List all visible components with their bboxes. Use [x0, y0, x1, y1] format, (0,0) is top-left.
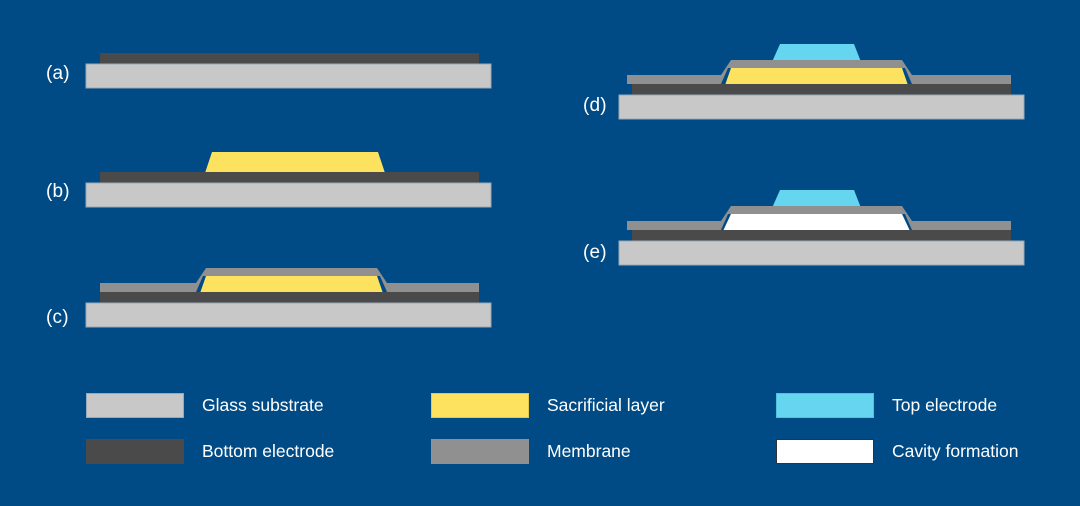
panel-c-bottom-electrode: [100, 292, 479, 303]
panel-b-bottom-electrode: [100, 172, 479, 183]
panel-label-b: (b): [46, 182, 70, 201]
panel-label-a: (a): [46, 64, 70, 83]
panel-d-top-electrode: [772, 44, 861, 62]
legend-label-membrane: Membrane: [547, 443, 631, 461]
legend-item-sacrificial-layer: Sacrificial layer: [431, 393, 665, 418]
legend-swatch-bottom-electrode: [86, 439, 184, 464]
panel-e-bottom-electrode: [632, 230, 1011, 241]
diagram-canvas: [0, 0, 1080, 506]
panel-d-group: [619, 44, 1024, 119]
process-flow-figure: (a) (b) (c) (d) (e) Glass substrate Bott…: [0, 0, 1080, 506]
legend-swatch-glass-substrate: [86, 393, 184, 418]
panel-a-bottom-electrode: [100, 53, 479, 64]
legend-label-top-electrode: Top electrode: [892, 397, 997, 415]
panel-e-top-electrode: [772, 190, 861, 208]
panel-a-glass-substrate: [86, 64, 491, 88]
panel-c-group: [86, 268, 491, 327]
legend-label-glass-substrate: Glass substrate: [202, 397, 324, 415]
legend-item-bottom-electrode: Bottom electrode: [86, 439, 334, 464]
legend-item-glass-substrate: Glass substrate: [86, 393, 324, 418]
legend-swatch-top-electrode: [776, 393, 874, 418]
legend-swatch-sacrificial-layer: [431, 393, 529, 418]
legend-label-sacrificial-layer: Sacrificial layer: [547, 397, 665, 415]
panel-d-bottom-electrode: [632, 84, 1011, 95]
panel-a-group: [86, 53, 491, 88]
legend-label-bottom-electrode: Bottom electrode: [202, 443, 334, 461]
legend-item-membrane: Membrane: [431, 439, 631, 464]
panel-label-e: (e): [583, 243, 607, 262]
panel-d-glass-substrate: [619, 95, 1024, 119]
legend-label-cavity-formation: Cavity formation: [892, 443, 1018, 461]
panel-e-cavity: [723, 214, 910, 231]
panel-label-d: (d): [583, 96, 607, 115]
legend-swatch-cavity-formation: [776, 439, 874, 464]
panel-label-c: (c): [46, 308, 69, 327]
panel-b-group: [86, 152, 491, 207]
panel-c-glass-substrate: [86, 303, 491, 327]
panel-e-group: [619, 190, 1024, 265]
legend-item-cavity-formation: Cavity formation: [776, 439, 1018, 464]
legend-swatch-membrane: [431, 439, 529, 464]
legend-item-top-electrode: Top electrode: [776, 393, 997, 418]
panel-b-glass-substrate: [86, 183, 491, 207]
panel-e-glass-substrate: [619, 241, 1024, 265]
